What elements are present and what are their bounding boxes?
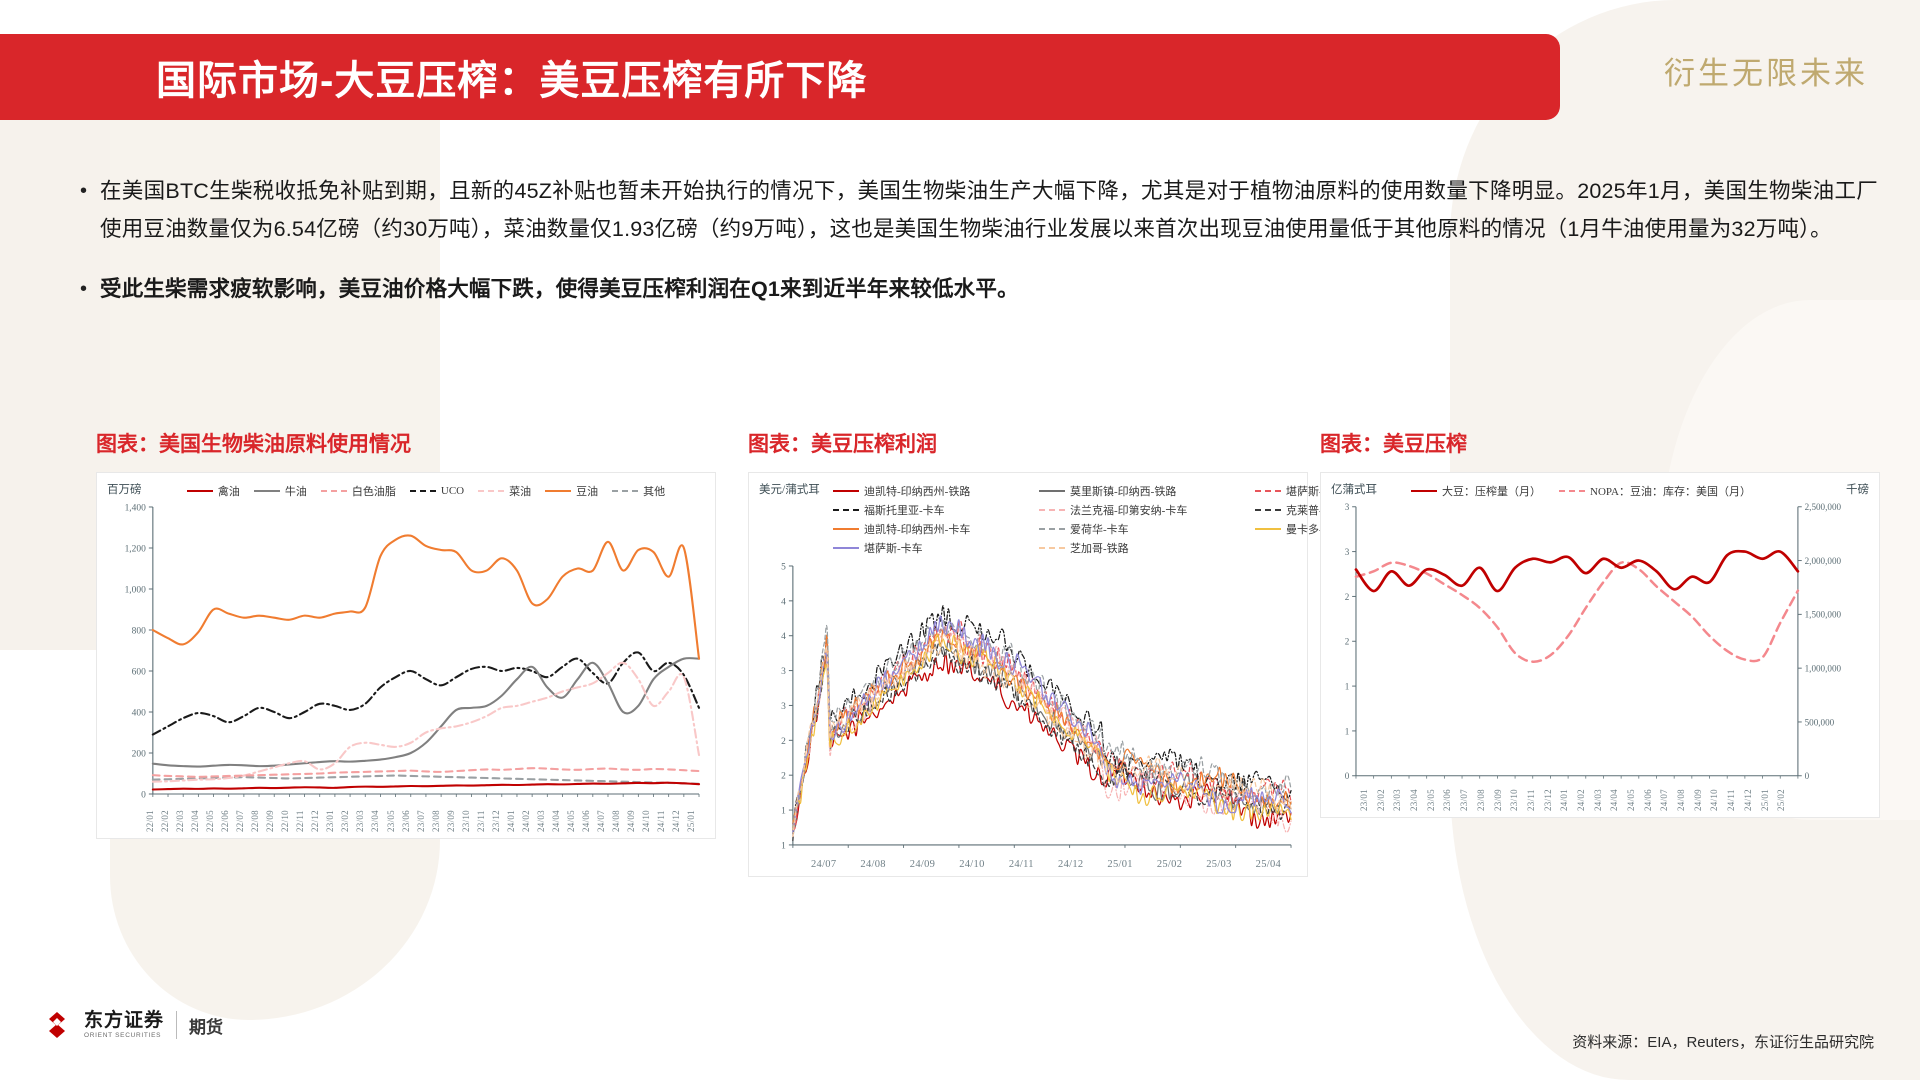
- svg-text:1,400: 1,400: [125, 503, 147, 513]
- svg-text:0: 0: [1345, 771, 1350, 781]
- svg-text:2: 2: [1345, 637, 1350, 647]
- legend-swatch: [187, 490, 213, 492]
- chart-title-crush: 图表：美豆压榨: [1320, 428, 1880, 458]
- legend-label: 芝加哥-铁路: [1070, 540, 1129, 556]
- svg-text:3: 3: [781, 667, 786, 677]
- legend-item[interactable]: 牛油: [254, 483, 307, 499]
- x-axis-tick-label: 22/11: [295, 810, 310, 832]
- svg-text:0: 0: [1805, 771, 1810, 781]
- x-axis-tick-label: 23/03: [355, 810, 370, 832]
- legend-item[interactable]: UCO: [410, 483, 464, 499]
- x-axis-tick-label: 25/01: [686, 810, 701, 832]
- legend-label: 牛油: [285, 483, 307, 499]
- x-axis-tick-label: 24/02: [1576, 789, 1593, 811]
- legend-swatch: [1039, 547, 1065, 549]
- bullet-marker: •: [78, 270, 100, 308]
- charts-row: 图表：美国生物柴油原料使用情况 百万磅 禽油牛油白色油脂UCO菜油豆油其他 02…: [0, 428, 1920, 948]
- x-axis-tick-label: 24/08: [611, 810, 626, 832]
- chart-legend-feedstock: 禽油牛油白色油脂UCO菜油豆油其他: [107, 481, 705, 501]
- svg-text:1,500,000: 1,500,000: [1805, 610, 1842, 620]
- legend-swatch: [612, 490, 638, 492]
- legend-label: NOPA：豆油：库存：美国（月）: [1590, 483, 1751, 499]
- legend-label: 菜油: [509, 483, 531, 499]
- legend-label: 堪萨斯-卡车: [864, 540, 923, 556]
- x-axis-tick-label: 22/08: [250, 810, 265, 832]
- legend-item[interactable]: 莫里斯镇-印纳西-铁路: [1039, 483, 1249, 499]
- x-axis-tick-label: 25/04: [1244, 859, 1293, 870]
- x-axis-tick-label: 24/08: [1676, 789, 1693, 811]
- svg-text:5: 5: [781, 562, 786, 572]
- legend-item[interactable]: 堪萨斯-卡车: [833, 540, 1033, 556]
- x-axis-tick-label: 23/01: [325, 810, 340, 832]
- x-axis-tick-label: 24/06: [581, 810, 596, 832]
- x-axis-tick-label: 23/11: [1526, 789, 1543, 811]
- x-axis-tick-label: 25/02: [1145, 859, 1194, 870]
- chart-panel-feedstock: 图表：美国生物柴油原料使用情况 百万磅 禽油牛油白色油脂UCO菜油豆油其他 02…: [96, 428, 716, 839]
- bullet-text: 受此生柴需求疲软影响，美豆油价格大幅下跌，使得美豆压榨利润在Q1来到近半年来较低…: [100, 270, 1878, 308]
- bullet-marker: •: [78, 172, 100, 210]
- legend-swatch: [1039, 490, 1065, 492]
- page-title: 国际市场-大豆压榨：美豆压榨有所下降: [156, 48, 867, 106]
- x-axis-tick-label: 22/03: [175, 810, 190, 832]
- legend-item[interactable]: 其他: [612, 483, 665, 499]
- y-axis-unit-crush-left: 亿蒲式耳: [1331, 481, 1377, 497]
- x-axis-tick-label: 24/07: [799, 859, 848, 870]
- x-axis-tick-label: 24/12: [1743, 789, 1760, 811]
- legend-label: 福斯托里亚-卡车: [864, 502, 945, 518]
- body-bullets: • 在美国BTC生柴税收抵免补贴到期，且新的45Z补贴也暂未开始执行的情况下，美…: [78, 172, 1878, 330]
- chart-title-feedstock: 图表：美国生物柴油原料使用情况: [96, 428, 716, 458]
- x-axis-tick-label: 23/04: [370, 810, 385, 832]
- chart-plot-feedstock: 02004006008001,0001,2001,400: [107, 501, 705, 810]
- svg-text:2: 2: [781, 737, 786, 747]
- legend-swatch: [833, 490, 859, 492]
- legend-item[interactable]: 迪凯特-印纳西州-铁路: [833, 483, 1033, 499]
- svg-text:200: 200: [132, 749, 146, 759]
- legend-item[interactable]: 爱荷华-卡车: [1039, 521, 1249, 537]
- title-bar: 国际市场-大豆压榨：美豆压榨有所下降: [0, 34, 1560, 120]
- svg-text:3: 3: [1345, 547, 1350, 557]
- logo-divider: [176, 1011, 177, 1039]
- legend-swatch: [545, 490, 571, 492]
- x-axis-labels-crush-margin: 24/0724/0824/0924/1024/1124/1225/0125/02…: [759, 859, 1297, 870]
- legend-item[interactable]: 菜油: [478, 483, 531, 499]
- svg-text:500,000: 500,000: [1805, 717, 1835, 727]
- x-axis-tick-label: 23/05: [386, 810, 401, 832]
- x-axis-tick-label: 24/02: [521, 810, 536, 832]
- x-axis-tick-label: 22/05: [205, 810, 220, 832]
- chart-panel-crush: 图表：美豆压榨 亿蒲式耳 千磅 大豆：压榨量（月）NOPA：豆油：库存：美国（月…: [1320, 428, 1880, 818]
- x-axis-tick-label: 24/12: [671, 810, 686, 832]
- legend-item[interactable]: 福斯托里亚-卡车: [833, 502, 1033, 518]
- legend-item[interactable]: 法兰克福-印第安纳-卡车: [1039, 502, 1249, 518]
- legend-swatch: [254, 490, 280, 492]
- x-axis-tick-label: 25/03: [1194, 859, 1243, 870]
- legend-label: 法兰克福-印第安纳-卡车: [1070, 502, 1187, 518]
- x-axis-tick-label: 22/12: [310, 810, 325, 832]
- x-axis-tick-label: 23/02: [340, 810, 355, 832]
- chart-panel-crush-margin: 图表：美豆压榨利润 美元/蒲式耳 迪凯特-印纳西州-铁路莫里斯镇-印纳西-铁路堪…: [748, 428, 1308, 877]
- legend-label: 大豆：压榨量（月）: [1442, 483, 1541, 499]
- x-axis-labels-feedstock: 22/0122/0222/0322/0422/0522/0622/0722/08…: [107, 810, 705, 832]
- orient-securities-logo-icon: [42, 1010, 72, 1040]
- x-axis-tick-label: 24/10: [641, 810, 656, 832]
- x-axis-tick-label: 23/03: [1392, 789, 1409, 811]
- legend-swatch: [1559, 490, 1585, 492]
- legend-label: 迪凯特-印纳西州-卡车: [864, 521, 970, 537]
- legend-label: 禽油: [218, 483, 240, 499]
- chart-box-crush-margin: 美元/蒲式耳 迪凯特-印纳西州-铁路莫里斯镇-印纳西-铁路堪萨斯-铁路福斯托里亚…: [748, 472, 1308, 877]
- x-axis-labels-crush: 23/0123/0223/0323/0423/0523/0623/0723/08…: [1331, 789, 1869, 811]
- logo-name-block: 东方证券 ORIENT SECURITIES: [84, 1011, 164, 1040]
- legend-label: 迪凯特-印纳西州-铁路: [864, 483, 970, 499]
- svg-text:3: 3: [781, 702, 786, 712]
- svg-text:3: 3: [1345, 502, 1350, 512]
- svg-text:2: 2: [781, 772, 786, 782]
- svg-text:800: 800: [132, 626, 146, 636]
- x-axis-tick-label: 23/09: [446, 810, 461, 832]
- x-axis-tick-label: 22/02: [160, 810, 175, 832]
- x-axis-tick-label: 22/07: [235, 810, 250, 832]
- x-axis-tick-label: 23/08: [431, 810, 446, 832]
- chart-box-feedstock: 百万磅 禽油牛油白色油脂UCO菜油豆油其他 02004006008001,000…: [96, 472, 716, 839]
- x-axis-tick-label: 22/06: [220, 810, 235, 832]
- x-axis-tick-label: 24/07: [596, 810, 611, 832]
- x-axis-tick-label: 23/12: [1543, 789, 1560, 811]
- chart-legend-crush: 大豆：压榨量（月）NOPA：豆油：库存：美国（月）: [1331, 481, 1869, 501]
- svg-text:1: 1: [1345, 681, 1350, 691]
- svg-text:1,000: 1,000: [125, 585, 147, 595]
- x-axis-tick-label: 24/05: [1626, 789, 1643, 811]
- x-axis-tick-label: 25/01: [1095, 859, 1144, 870]
- legend-label: 豆油: [576, 483, 598, 499]
- x-axis-tick-label: 24/08: [848, 859, 897, 870]
- svg-text:2,000,000: 2,000,000: [1805, 556, 1842, 566]
- x-axis-tick-label: 24/11: [997, 859, 1046, 870]
- svg-text:600: 600: [132, 667, 146, 677]
- x-axis-tick-label: 23/10: [461, 810, 476, 832]
- legend-swatch: [833, 528, 859, 530]
- x-axis-tick-label: 23/02: [1376, 789, 1393, 811]
- x-axis-tick-label: 24/09: [898, 859, 947, 870]
- svg-text:400: 400: [132, 708, 146, 718]
- x-axis-tick-label: 24/03: [1593, 789, 1610, 811]
- svg-text:0: 0: [141, 790, 146, 800]
- svg-text:2: 2: [1345, 592, 1350, 602]
- legend-swatch: [1039, 528, 1065, 530]
- chart-legend-crush-margin: 迪凯特-印纳西州-铁路莫里斯镇-印纳西-铁路堪萨斯-铁路福斯托里亚-卡车法兰克福…: [759, 481, 1297, 560]
- x-axis-tick-label: 24/09: [1693, 789, 1710, 811]
- legend-swatch: [1411, 490, 1437, 492]
- chart-plot-crush: 01122330500,0001,000,0001,500,0002,000,0…: [1331, 501, 1869, 789]
- bullet-item: • 在美国BTC生柴税收抵免补贴到期，且新的45Z补贴也暂未开始执行的情况下，美…: [78, 172, 1878, 248]
- logo-name-cn: 东方证券: [84, 1011, 164, 1030]
- x-axis-tick-label: 23/11: [476, 810, 491, 832]
- legend-label: 白色油脂: [352, 483, 396, 499]
- x-axis-tick-label: 23/06: [401, 810, 416, 832]
- legend-item[interactable]: 迪凯特-印纳西州-卡车: [833, 521, 1033, 537]
- legend-item[interactable]: NOPA：豆油：库存：美国（月）: [1559, 483, 1751, 499]
- logo-subbrand: 期货: [189, 1013, 223, 1038]
- x-axis-tick-label: 22/01: [145, 810, 160, 832]
- legend-item[interactable]: 豆油: [545, 483, 598, 499]
- source-note: 资料来源：EIA，Reuters，东证衍生品研究院: [1572, 1031, 1874, 1052]
- slide-root: 国际市场-大豆压榨：美豆压榨有所下降 衍生无限未来 • 在美国BTC生柴税收抵免…: [0, 0, 1920, 1080]
- legend-swatch: [1039, 509, 1065, 511]
- x-axis-tick-label: 25/01: [1760, 789, 1777, 811]
- legend-label: UCO: [441, 485, 464, 497]
- svg-text:1: 1: [781, 841, 786, 851]
- legend-item[interactable]: 芝加哥-铁路: [1039, 540, 1249, 556]
- x-axis-tick-label: 23/01: [1359, 789, 1376, 811]
- logo-name-en: ORIENT SECURITIES: [84, 1033, 164, 1040]
- x-axis-tick-label: 23/07: [416, 810, 431, 832]
- x-axis-tick-label: 24/11: [1726, 789, 1743, 811]
- brand-tagline: 衍生无限未来: [1664, 48, 1868, 93]
- legend-swatch: [1255, 528, 1281, 530]
- legend-label: 莫里斯镇-印纳西-铁路: [1070, 483, 1176, 499]
- chart-plot-crush-margin: 112233445: [759, 560, 1297, 859]
- legend-item[interactable]: 大豆：压榨量（月）: [1411, 483, 1541, 499]
- legend-item[interactable]: 白色油脂: [321, 483, 396, 499]
- x-axis-tick-label: 24/05: [566, 810, 581, 832]
- x-axis-tick-label: 24/06: [1643, 789, 1660, 811]
- x-axis-tick-label: 24/07: [1659, 789, 1676, 811]
- legend-swatch: [478, 490, 504, 492]
- x-axis-tick-label: 23/07: [1459, 789, 1476, 811]
- x-axis-tick-label: 24/03: [536, 810, 551, 832]
- x-axis-tick-label: 24/11: [656, 810, 671, 832]
- legend-swatch: [321, 490, 347, 492]
- x-axis-tick-label: 24/09: [626, 810, 641, 832]
- legend-swatch: [833, 547, 859, 549]
- x-axis-tick-label: 24/10: [1709, 789, 1726, 811]
- x-axis-tick-label: 23/08: [1476, 789, 1493, 811]
- chart-title-crush-margin: 图表：美豆压榨利润: [748, 428, 1308, 458]
- legend-swatch: [833, 509, 859, 511]
- x-axis-tick-label: 23/05: [1426, 789, 1443, 811]
- svg-text:2,500,000: 2,500,000: [1805, 502, 1842, 512]
- bullet-item: • 受此生柴需求疲软影响，美豆油价格大幅下跌，使得美豆压榨利润在Q1来到近半年来…: [78, 270, 1878, 308]
- x-axis-tick-label: 22/09: [265, 810, 280, 832]
- legend-swatch: [1255, 509, 1281, 511]
- x-axis-tick-label: 24/12: [1046, 859, 1095, 870]
- x-axis-tick-label: 24/10: [947, 859, 996, 870]
- x-axis-tick-label: 22/04: [190, 810, 205, 832]
- x-axis-tick-label: 23/09: [1493, 789, 1510, 811]
- x-axis-tick-label: 25/02: [1776, 789, 1793, 811]
- legend-swatch: [1255, 490, 1281, 492]
- x-axis-tick-label: 24/04: [1609, 789, 1626, 811]
- legend-label: 其他: [643, 483, 665, 499]
- legend-label: 爱荷华-卡车: [1070, 521, 1129, 537]
- x-axis-tick-label: 24/01: [1559, 789, 1576, 811]
- svg-text:4: 4: [781, 597, 786, 607]
- x-axis-tick-label: 24/01: [506, 810, 521, 832]
- svg-text:1,000,000: 1,000,000: [1805, 664, 1842, 674]
- x-axis-tick-label: 22/10: [280, 810, 295, 832]
- x-axis-tick-label: 24/04: [551, 810, 566, 832]
- x-axis-tick-label: 23/06: [1442, 789, 1459, 811]
- svg-text:1: 1: [781, 807, 786, 817]
- x-axis-tick-label: 23/12: [491, 810, 506, 832]
- x-axis-tick-label: 23/10: [1509, 789, 1526, 811]
- svg-text:1: 1: [1345, 726, 1350, 736]
- svg-text:4: 4: [781, 632, 786, 642]
- x-axis-tick-label: 23/04: [1409, 789, 1426, 811]
- y-axis-unit-feedstock: 百万磅: [107, 481, 142, 497]
- y-axis-unit-crush-right: 千磅: [1846, 481, 1869, 497]
- footer-logo: 东方证券 ORIENT SECURITIES 期货: [42, 1010, 223, 1040]
- legend-swatch: [410, 490, 436, 492]
- svg-text:1,200: 1,200: [125, 544, 147, 554]
- y-axis-unit-crush-margin: 美元/蒲式耳: [759, 481, 820, 497]
- chart-box-crush: 亿蒲式耳 千磅 大豆：压榨量（月）NOPA：豆油：库存：美国（月） 011223…: [1320, 472, 1880, 818]
- bullet-text: 在美国BTC生柴税收抵免补贴到期，且新的45Z补贴也暂未开始执行的情况下，美国生…: [100, 172, 1878, 248]
- legend-item[interactable]: 禽油: [187, 483, 240, 499]
